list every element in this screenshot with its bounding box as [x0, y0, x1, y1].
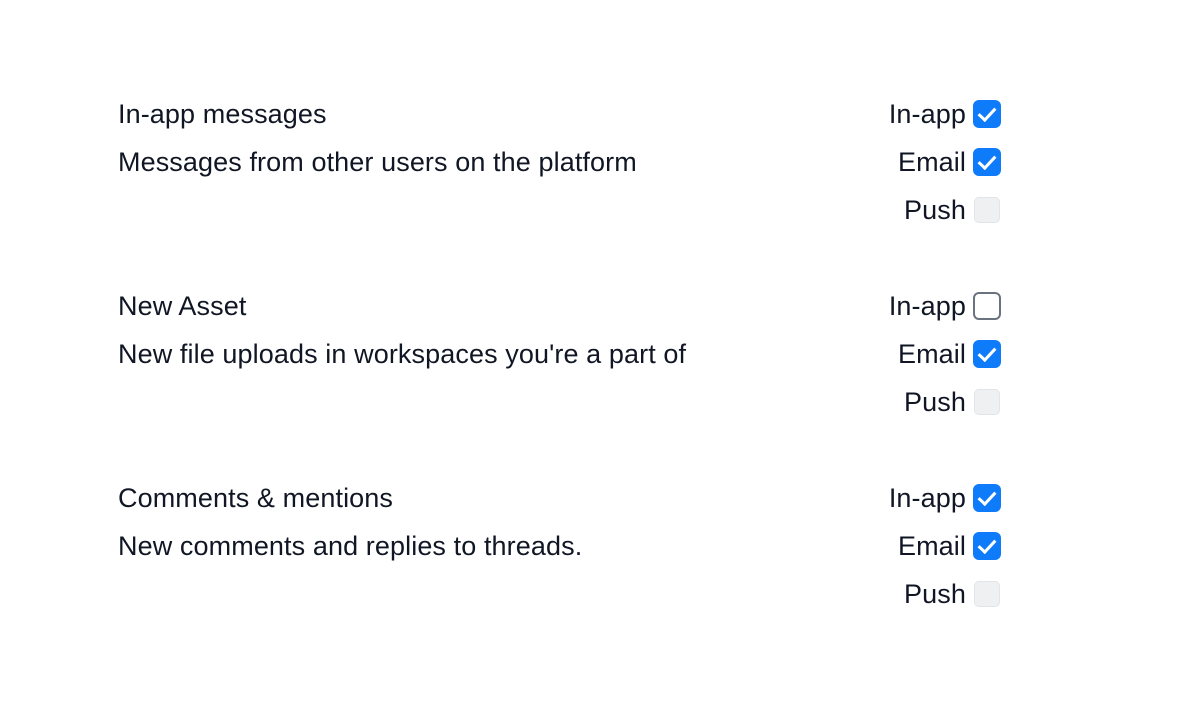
channel-label: Push: [904, 570, 966, 618]
empty-checkbox-icon[interactable]: [973, 292, 1001, 320]
preference-title: New Asset: [118, 282, 686, 330]
channel-row: In-app: [889, 474, 1001, 522]
checkmark-icon[interactable]: [973, 532, 1001, 560]
preference-text-block: In-app messagesMessages from other users…: [118, 90, 637, 186]
channel-row: In-app: [889, 282, 1001, 330]
channel-toggle-list: In-appEmailPush: [889, 90, 1001, 234]
preference-description: Messages from other users on the platfor…: [118, 138, 637, 186]
channel-label: In-app: [889, 282, 966, 330]
empty-checkbox-icon: [974, 197, 1000, 223]
preference-title: In-app messages: [118, 90, 637, 138]
channel-row: Email: [889, 138, 1001, 186]
preference-group: Comments & mentionsNew comments and repl…: [118, 474, 1001, 618]
channel-row: Email: [889, 522, 1001, 570]
channel-label: Email: [898, 522, 966, 570]
notification-preferences-panel: In-app messagesMessages from other users…: [0, 0, 1184, 714]
channel-label: Push: [904, 378, 966, 426]
channel-row: Push: [889, 570, 1001, 618]
checkmark-icon[interactable]: [973, 484, 1001, 512]
channel-label: In-app: [889, 474, 966, 522]
checkmark-icon[interactable]: [973, 148, 1001, 176]
preference-text-block: Comments & mentionsNew comments and repl…: [118, 474, 582, 570]
channel-toggle-list: In-appEmailPush: [889, 474, 1001, 618]
channel-label: Email: [898, 330, 966, 378]
preference-title: Comments & mentions: [118, 474, 582, 522]
channel-label: Push: [904, 186, 966, 234]
preference-group: New AssetNew file uploads in workspaces …: [118, 282, 1001, 426]
empty-checkbox-icon: [974, 389, 1000, 415]
preference-group: In-app messagesMessages from other users…: [118, 90, 1001, 234]
checkmark-icon[interactable]: [973, 340, 1001, 368]
channel-row: Email: [889, 330, 1001, 378]
channel-toggle-list: In-appEmailPush: [889, 282, 1001, 426]
channel-row: In-app: [889, 90, 1001, 138]
channel-label: In-app: [889, 90, 966, 138]
preference-description: New file uploads in workspaces you're a …: [118, 330, 686, 378]
channel-label: Email: [898, 138, 966, 186]
checkmark-icon[interactable]: [973, 100, 1001, 128]
channel-row: Push: [889, 378, 1001, 426]
preference-text-block: New AssetNew file uploads in workspaces …: [118, 282, 686, 378]
preference-description: New comments and replies to threads.: [118, 522, 582, 570]
channel-row: Push: [889, 186, 1001, 234]
empty-checkbox-icon: [974, 581, 1000, 607]
